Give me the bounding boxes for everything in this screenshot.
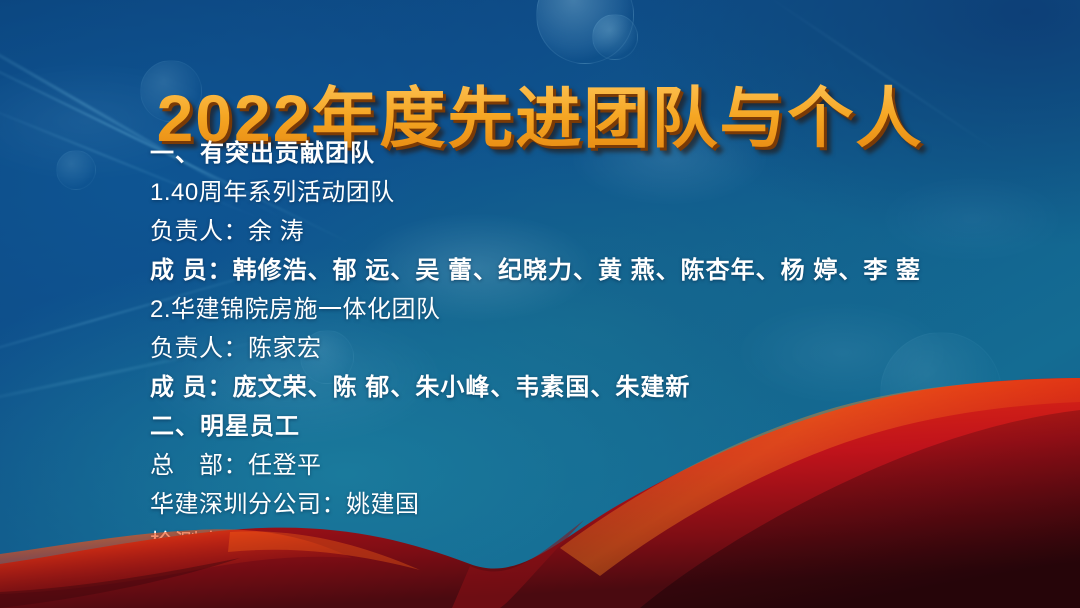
- award-line: 成 员：韩修浩、郁 远、吴 蕾、纪晓力、黄 燕、陈杏年、杨 婷、李 蓥: [150, 251, 1060, 290]
- bokeh-circle: [592, 14, 638, 60]
- presentation-slide: 2022年度先进团队与个人 一、有突出贡献团队1.40周年系列活动团队负责人：余…: [0, 0, 1080, 608]
- award-line: 负责人：陈家宏: [150, 329, 1060, 368]
- red-silk-ribbon-decoration: [0, 378, 1080, 608]
- award-line: 1.40周年系列活动团队: [150, 173, 1060, 212]
- bokeh-circle: [56, 150, 96, 190]
- award-line: 2.华建锦院房施一体化团队: [150, 290, 1060, 329]
- award-line: 负责人：余 涛: [150, 212, 1060, 251]
- award-line: 一、有突出贡献团队: [150, 134, 1060, 173]
